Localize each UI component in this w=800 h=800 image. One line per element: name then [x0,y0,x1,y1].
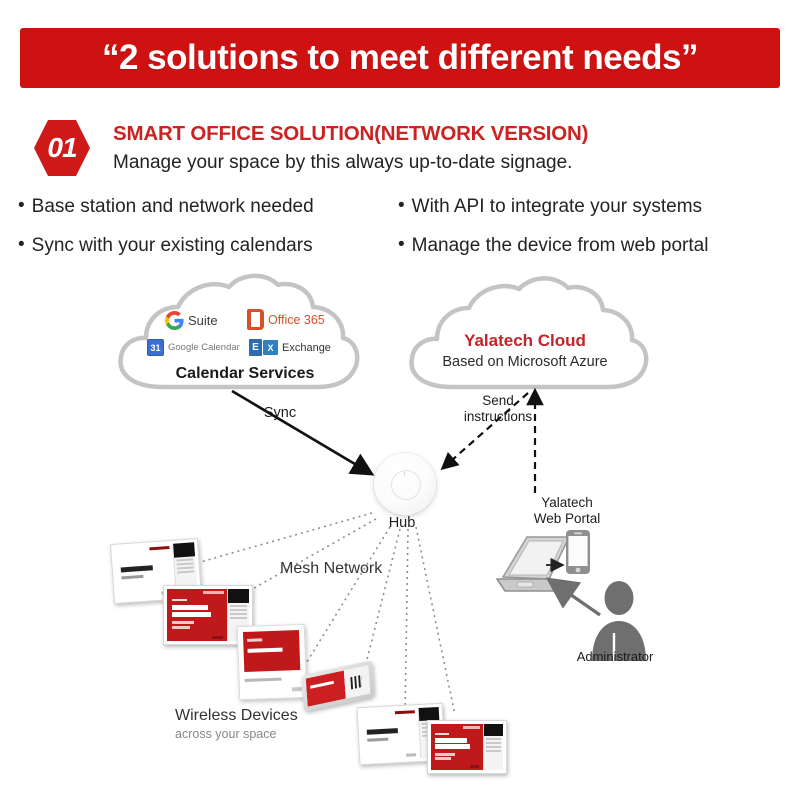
panel-agenda-row [486,750,501,752]
panel-agenda-header [228,589,249,603]
sync-arrow [232,391,370,473]
hub-label: Hub [377,515,427,532]
panel-kicker-bar [172,599,188,601]
send-instructions-line2: instructions [464,409,532,424]
service-label: Google Calendar [168,342,240,353]
section-number-badge: 01 [34,120,90,176]
signage-panel-portrait-red [237,624,308,700]
tablet-white-area [344,665,370,698]
wireless-devices-subtitle: across your space [175,727,345,741]
panel-agenda-row [486,746,501,748]
service-label: Suite [188,313,218,328]
panel-agenda-header [484,724,503,736]
panel-subline-bar [435,753,455,756]
panel-agenda-row [177,562,194,565]
bullet-column-left: • Base station and network needed • Sync… [18,196,314,274]
panel-subline-bar-2 [435,757,451,760]
web-portal-line1: Yalatech [541,495,593,510]
panel-subline-bar-2 [172,626,190,629]
panel-subline-bar [172,621,195,624]
calendar-services-title: Calendar Services [160,365,330,383]
panel-subline-bar [121,575,143,580]
panel-agenda-row [230,609,247,611]
headline-text: “2 solutions to meet different needs” [102,38,698,78]
panel-red-area [243,630,300,672]
panel-agenda-header [173,542,195,557]
panel-headline-bar [172,605,208,610]
panel-headline-bar [120,565,153,572]
panel-brand-bar [395,710,414,714]
office-365-icon [247,309,264,330]
signage-panel-red-2 [427,720,507,774]
panel-agenda-row [230,613,247,615]
service-label: Exchange [282,342,331,354]
panel-headline-bar [435,738,466,743]
service-exchange: E X Exchange [249,339,331,356]
sync-label: Sync [250,405,310,422]
panel-brand-bar [248,638,263,642]
yalatech-cloud-title: Yalatech Cloud [435,331,615,351]
slide-root: “2 solutions to meet different needs” 01… [0,0,800,800]
panel-brand-bar [203,591,223,594]
panel-main-area [361,708,420,761]
panel-footer-bar [212,636,223,639]
panel-brand-bar [150,546,170,550]
panel-agenda-header [418,707,439,721]
bullet-label: With API to integrate your systems [412,196,702,218]
administrator-label: Administrator [560,650,670,665]
panel-headline-bar [248,647,283,652]
list-item: • Manage the device from web portal [398,235,708,257]
panel-agenda-row [176,558,193,561]
bullet-label: Base station and network needed [32,196,314,218]
exchange-x-glyph: X [263,340,278,355]
web-portal-label: Yalatech Web Portal [525,495,609,526]
panel-headline-bar [366,728,398,735]
panel-subline-bar [367,738,389,742]
web-portal-line2: Web Portal [534,511,601,526]
exchange-icon: E X [249,339,278,356]
administrator-to-portal-arrow [551,581,600,615]
bullet-label: Manage the device from web portal [412,235,709,257]
qr-code-icon [350,675,362,690]
panel-screen [431,724,503,770]
architecture-diagram: Suite Office 365 31 Google Calendar E X … [0,265,800,800]
panel-agenda-row [486,738,501,740]
service-office-365: Office 365 [247,309,325,330]
mesh-network-label: Mesh Network [280,560,400,578]
bullet-dot-icon: • [18,196,25,215]
bullet-label: Sync with your existing calendars [32,235,313,257]
panel-agenda-row [486,742,501,744]
panel-agenda-row [230,617,247,619]
yalatech-cloud-subtitle: Based on Microsoft Azure [420,354,630,370]
laptop-icon [497,537,569,591]
panel-subline-bar [245,677,282,681]
panel-agenda-row [177,566,194,569]
hub-device [374,453,436,515]
panel-footer-bar [406,753,416,757]
service-google-calendar: 31 Google Calendar [147,339,240,356]
list-item: • Sync with your existing calendars [18,235,314,257]
panel-headline-bar-2 [435,744,470,749]
headline-banner: “2 solutions to meet different needs” [20,28,780,88]
section-number-text: 01 [47,132,76,164]
exchange-e-glyph: E [249,339,262,356]
bullet-dot-icon: • [18,235,25,254]
panel-kicker-bar [435,733,449,735]
panel-agenda-column [483,724,503,770]
bullet-dot-icon: • [398,196,405,215]
section-subtitle: Manage your space by this always up-to-d… [113,152,572,174]
panel-brand-bar [463,726,481,729]
bullet-dot-icon: • [398,235,405,254]
google-g-icon [165,311,184,330]
section-title: SMART OFFICE SOLUTION(NETWORK VERSION) [113,122,588,146]
hub-indicator-icon [404,471,405,476]
panel-headline-bar-2 [172,612,211,617]
panel-agenda-row [177,570,194,573]
send-instructions-label: Send instructions [455,393,541,424]
panel-footer-bar [470,765,479,768]
tablet-red-area [306,670,347,706]
list-item: • Base station and network needed [18,196,314,218]
list-item: • With API to integrate your systems [398,196,708,218]
panel-main-area [167,589,227,641]
service-label: Office 365 [268,313,325,327]
panel-agenda-row [230,605,247,607]
panel-main-area [431,724,483,770]
phone-icon [566,530,590,574]
google-calendar-icon: 31 [147,339,164,356]
panel-footer-bar [291,687,302,691]
send-instructions-line1: Send [482,393,514,408]
bullet-column-right: • With API to integrate your systems • M… [398,196,708,274]
service-g-suite: Suite [165,311,218,330]
